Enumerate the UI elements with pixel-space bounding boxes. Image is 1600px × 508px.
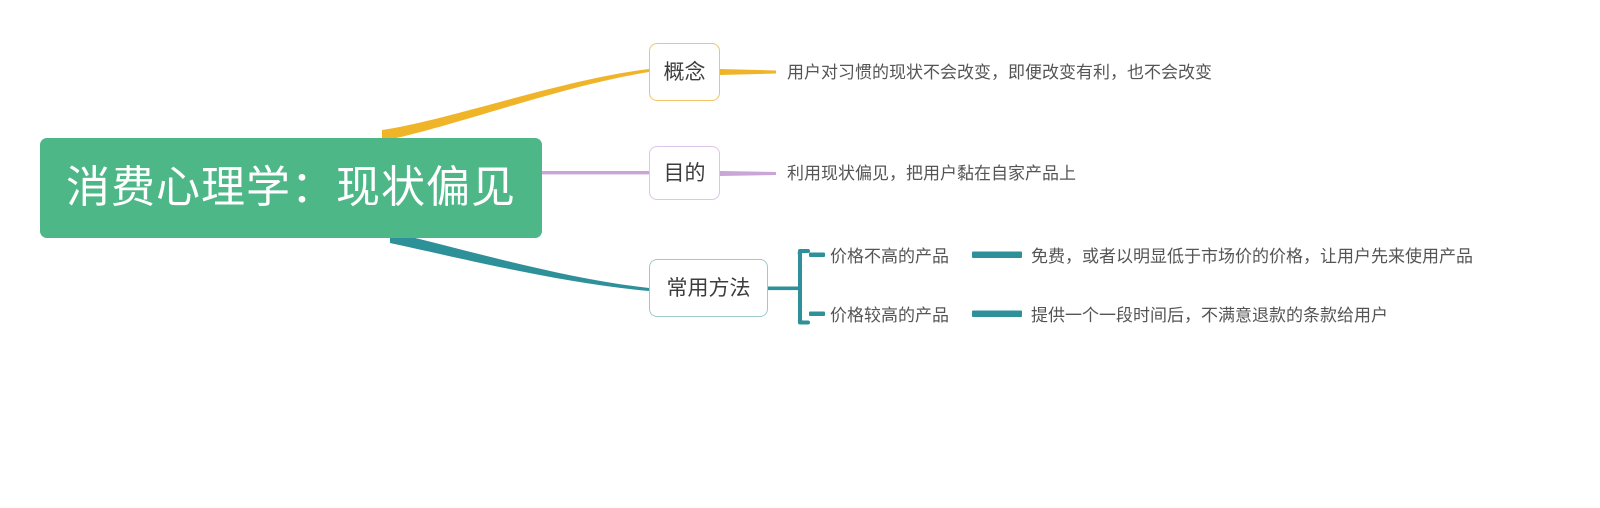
branch-node-purpose[interactable]: 目的 (649, 146, 720, 200)
edge-root-to-methods (390, 232, 649, 291)
leaf-purpose-description: 利用现状偏见，把用户黏在自家产品上 (787, 165, 1076, 182)
edge-bracket-vertical (798, 251, 802, 323)
branch-node-methods[interactable]: 常用方法 (649, 259, 768, 317)
edge-root-to-purpose (542, 171, 649, 174)
edge-purpose-to-leaf (720, 171, 776, 176)
branch-node-purpose-label: 目的 (664, 163, 706, 184)
leaf-concept-description: 用户对习惯的现状不会改变，即便改变有利，也不会改变 (787, 64, 1212, 81)
branch-node-concept-label: 概念 (664, 62, 706, 83)
edge-concept-to-leaf (720, 69, 776, 75)
edge-bracket-arm-top (798, 249, 810, 253)
root-node[interactable]: 消费心理学：现状偏见 (40, 138, 542, 238)
sub-node-low-price-label: 价格不高的产品 (830, 248, 949, 265)
branch-node-methods-label: 常用方法 (667, 278, 751, 299)
root-node-label: 消费心理学：现状偏见 (66, 166, 516, 210)
edge-methods-bracket (798, 249, 808, 325)
edge-bracket-arm-bottom (798, 321, 810, 325)
branch-node-concept[interactable]: 概念 (649, 43, 720, 101)
sub-node-high-price-label: 价格较高的产品 (830, 307, 949, 324)
edge-methods-trunk (768, 287, 802, 291)
dash-sub-high (809, 312, 825, 317)
edge-root-to-concept (382, 69, 649, 141)
dash-sub-low (809, 253, 825, 258)
mind-map-canvas: 消费心理学：现状偏见 概念 用户对习惯的现状不会改变，即便改变有利，也不会改变 … (0, 0, 1600, 508)
edge-sub-high-to-leaf (972, 311, 1022, 318)
leaf-high-price-description: 提供一个一段时间后，不满意退款的条款给用户 (1031, 307, 1388, 324)
leaf-low-price-description: 免费，或者以明显低于市场价的价格，让用户先来使用产品 (1031, 248, 1473, 265)
edge-sub-low-to-leaf (972, 252, 1022, 259)
